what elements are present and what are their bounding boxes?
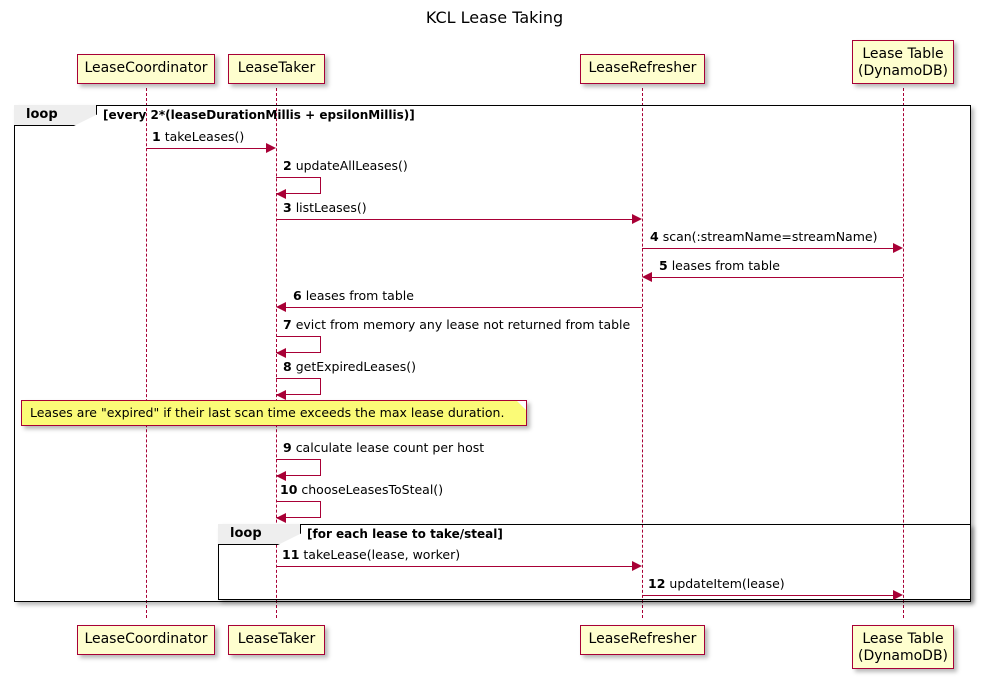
group-inner-loop-condition: [for each lease to take/steal] [307, 527, 503, 541]
message-10-text: chooseLeasesToSteal() [301, 482, 443, 497]
message-9-label: 9 calculate lease count per host [283, 440, 484, 455]
message-3-line [276, 219, 632, 220]
message-6-text: leases from table [306, 288, 414, 303]
participant-lease-taker-top[interactable]: LeaseTaker [228, 54, 325, 84]
message-2-arrowhead [276, 189, 286, 199]
message-8-arrowhead [276, 390, 286, 400]
participant-lease-table-top[interactable]: Lease Table (DynamoDB) [852, 40, 954, 84]
message-1-text: takeLeases() [165, 129, 245, 144]
message-6-line [286, 307, 642, 308]
message-5-arrowhead [642, 272, 652, 282]
message-11-seq: 11 [282, 547, 299, 562]
participant-lease-taker-bottom[interactable]: LeaseTaker [228, 625, 325, 655]
message-9-arrowhead [276, 471, 286, 481]
message-8-label: 8 getExpiredLeases() [283, 359, 416, 374]
message-8-seq: 8 [283, 359, 292, 374]
note-expired-lease-text: Leases are "expired" if their last scan … [30, 405, 504, 420]
message-9-seq: 9 [283, 440, 292, 455]
message-4-text: scan(:streamName=streamName) [663, 229, 878, 244]
message-7-seq: 7 [283, 317, 292, 332]
participant-lease-refresher-top[interactable]: LeaseRefresher [580, 54, 705, 84]
message-4-arrowhead [893, 243, 903, 253]
participant-lease-coordinator-top[interactable]: LeaseCoordinator [77, 54, 215, 84]
message-9-text: calculate lease count per host [296, 440, 484, 455]
sequence-diagram-canvas: KCL Lease Taking LeaseCoordinator LeaseT… [0, 0, 989, 681]
message-12-label: 12 updateItem(lease) [648, 576, 785, 591]
message-5-seq: 5 [659, 258, 668, 273]
message-3-seq: 3 [283, 200, 292, 215]
message-11-label: 11 takeLease(lease, worker) [282, 547, 460, 562]
message-6-arrowhead [276, 302, 286, 312]
message-2-text: updateAllLeases() [296, 158, 408, 173]
page-title: KCL Lease Taking [0, 8, 989, 27]
message-7-text: evict from memory any lease not returned… [296, 317, 631, 332]
message-5-line [652, 277, 903, 278]
message-12-seq: 12 [648, 576, 665, 591]
message-8-text: getExpiredLeases() [296, 359, 416, 374]
message-12-line [642, 595, 893, 596]
note-fold-icon [517, 401, 526, 410]
note-expired-lease: Leases are "expired" if their last scan … [21, 400, 527, 426]
message-4-label: 4 scan(:streamName=streamName) [650, 229, 877, 244]
message-10-seq: 10 [280, 482, 297, 497]
message-1-seq: 1 [152, 129, 161, 144]
message-1-arrowhead [266, 143, 276, 153]
message-11-line [276, 566, 632, 567]
message-4-line [642, 248, 893, 249]
message-12-arrowhead [893, 590, 903, 600]
message-12-text: updateItem(lease) [669, 576, 784, 591]
group-outer-loop-condition: [every 2*(leaseDurationMillis + epsilonM… [103, 108, 415, 122]
message-1-line [146, 148, 266, 149]
message-10-label: 10 chooseLeasesToSteal() [280, 482, 443, 497]
participant-lease-refresher-bottom[interactable]: LeaseRefresher [580, 625, 705, 655]
message-3-arrowhead [632, 214, 642, 224]
message-3-text: listLeases() [296, 200, 367, 215]
message-1-label: 1 takeLeases() [152, 129, 244, 144]
message-10-arrowhead [276, 513, 286, 523]
participant-lease-table-bottom[interactable]: Lease Table (DynamoDB) [852, 625, 954, 669]
message-6-label: 6 leases from table [293, 288, 414, 303]
message-11-text: takeLease(lease, worker) [303, 547, 460, 562]
message-5-label: 5 leases from table [659, 258, 780, 273]
message-5-text: leases from table [672, 258, 780, 273]
message-4-seq: 4 [650, 229, 659, 244]
participant-lease-coordinator-bottom[interactable]: LeaseCoordinator [77, 625, 215, 655]
message-3-label: 3 listLeases() [283, 200, 367, 215]
message-11-arrowhead [632, 561, 642, 571]
message-2-label: 2 updateAllLeases() [283, 158, 408, 173]
message-7-label: 7 evict from memory any lease not return… [283, 317, 630, 332]
message-7-arrowhead [276, 348, 286, 358]
message-2-seq: 2 [283, 158, 292, 173]
message-6-seq: 6 [293, 288, 302, 303]
